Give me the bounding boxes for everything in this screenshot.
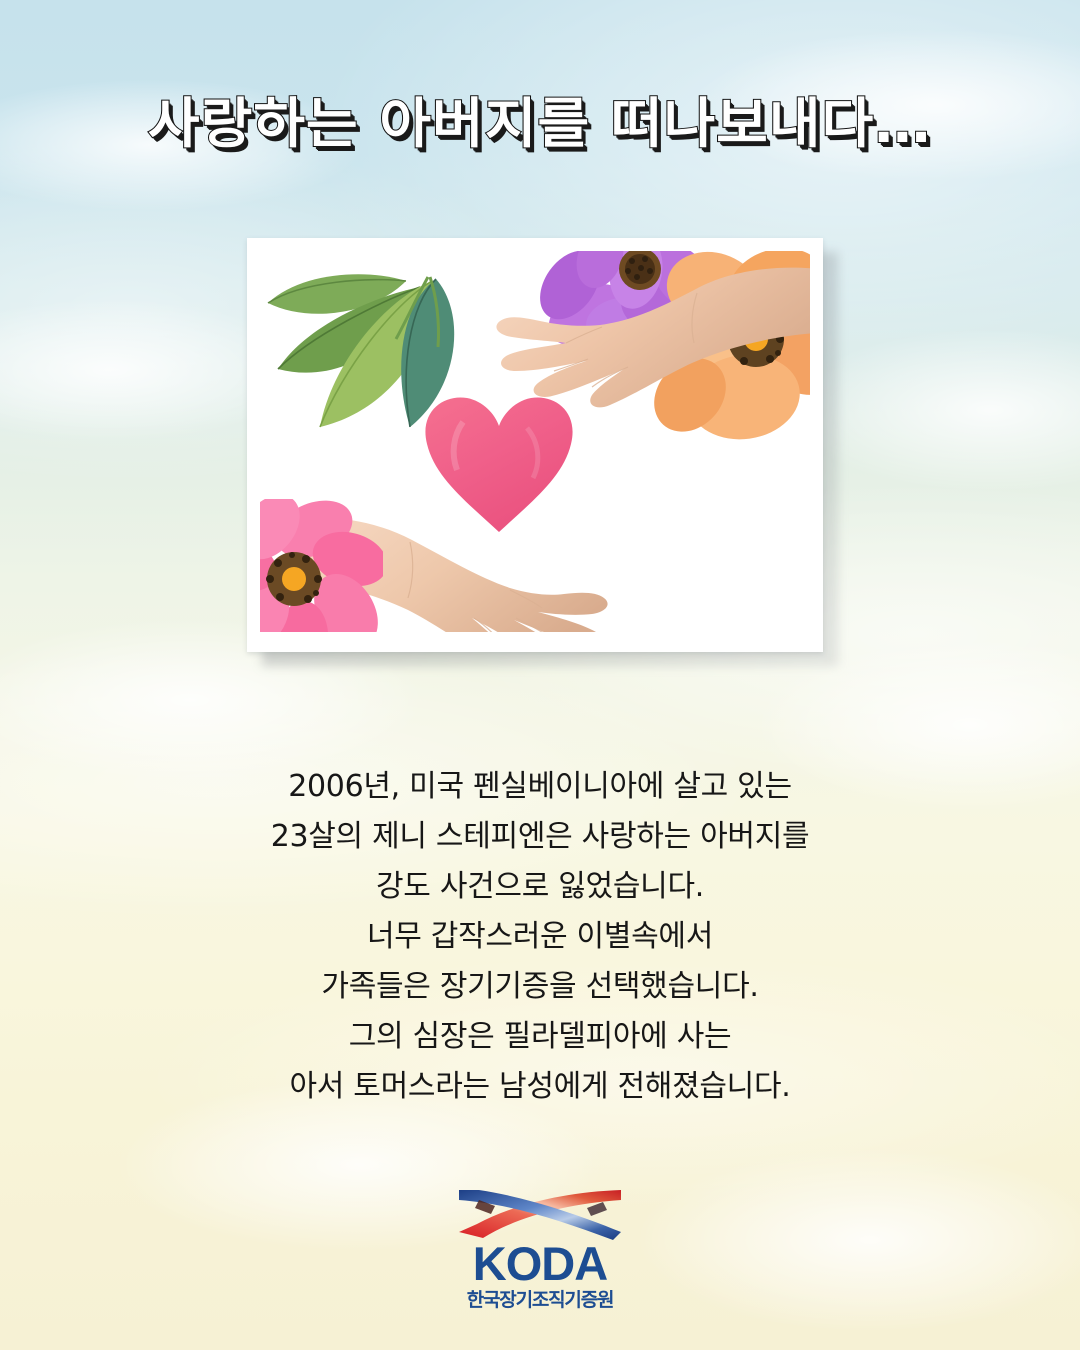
story-line: 아서 토머스라는 남성에게 전해졌습니다. bbox=[0, 1062, 1080, 1112]
poster-canvas: 사랑하는 아버지를 떠나보내다… bbox=[0, 0, 1080, 1350]
story-line: 23살의 제니 스테피엔은 사랑하는 아버지를 bbox=[0, 812, 1080, 862]
story-line: 너무 갑작스러운 이별속에서 bbox=[0, 912, 1080, 962]
koda-subtitle: 한국장기조직기증원 bbox=[0, 1291, 1080, 1310]
story-line: 강도 사건으로 잃었습니다. bbox=[0, 862, 1080, 912]
illustration-canvas bbox=[260, 251, 810, 632]
heart-icon bbox=[423, 394, 575, 534]
koda-ribbon-logo-icon bbox=[455, 1186, 625, 1242]
illustration-card bbox=[247, 238, 823, 652]
story-text: 2006년, 미국 펜실베이니아에 살고 있는 23살의 제니 스테피엔은 사랑… bbox=[0, 762, 1080, 1112]
story-line: 그의 심장은 필라델피아에 사는 bbox=[0, 1012, 1080, 1062]
story-line: 2006년, 미국 펜실베이니아에 살고 있는 bbox=[0, 762, 1080, 812]
story-line: 가족들은 장기기증을 선택했습니다. bbox=[0, 962, 1080, 1012]
title-container: 사랑하는 아버지를 떠나보내다… bbox=[0, 92, 1080, 156]
page-title: 사랑하는 아버지를 떠나보내다… bbox=[148, 92, 932, 156]
pink-flower-icon bbox=[260, 499, 383, 632]
koda-logo: KODA 한국장기조직기증원 bbox=[0, 1186, 1080, 1310]
koda-wordmark: KODA bbox=[0, 1240, 1080, 1287]
